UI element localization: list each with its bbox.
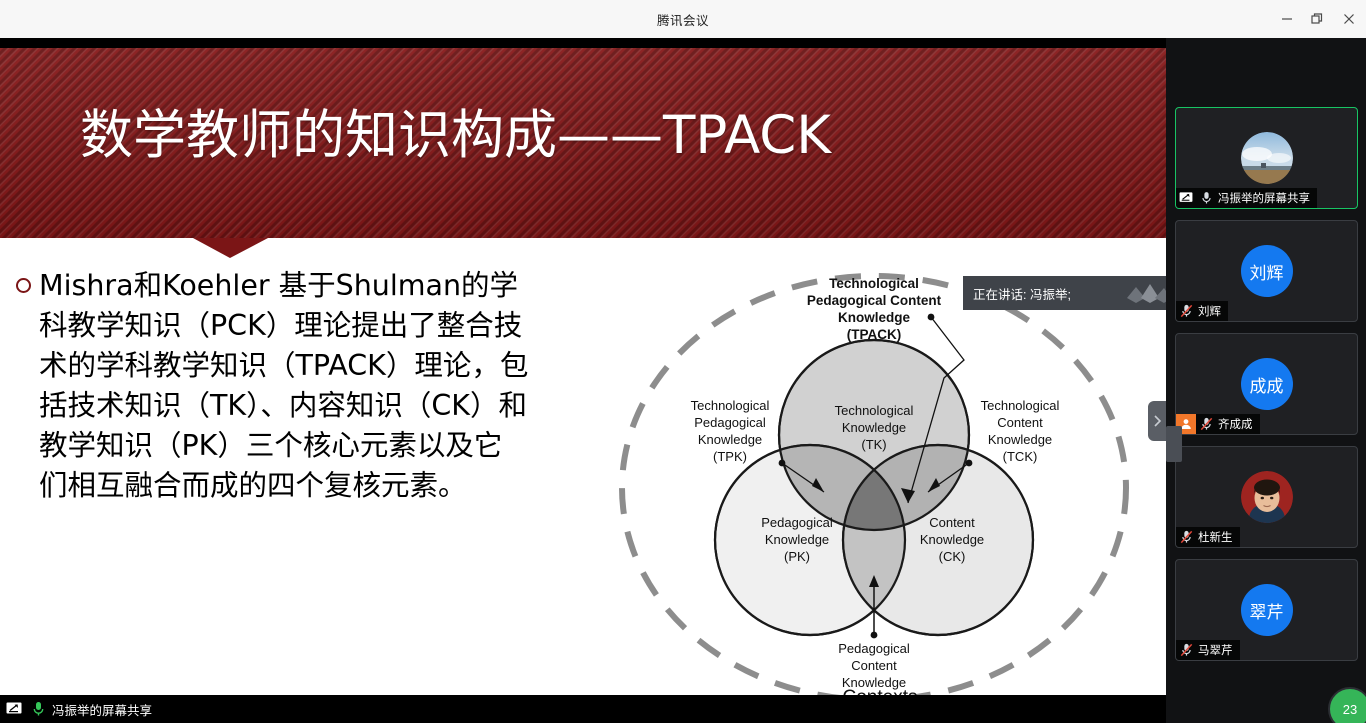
tck-label-line1: Technological bbox=[981, 398, 1060, 413]
participant-name: 冯振举的屏幕共享 bbox=[1216, 190, 1317, 206]
minimize-button[interactable] bbox=[1272, 0, 1302, 38]
screen-share-icon bbox=[4, 699, 24, 719]
window-title: 腾讯会议 bbox=[657, 10, 709, 29]
avatar bbox=[1241, 471, 1293, 523]
share-status-label: 冯振举的屏幕共享 bbox=[52, 700, 152, 719]
share-status-bar: 冯振举的屏幕共享 bbox=[0, 695, 1166, 723]
tpack-label-line3: Knowledge bbox=[838, 310, 910, 325]
tpk-label-line1: Technological bbox=[691, 398, 770, 413]
speaking-toast: 正在讲话: 冯振举; bbox=[963, 276, 1166, 310]
participant-tile-duxinsheng[interactable]: 杜新生 bbox=[1175, 446, 1358, 548]
tk-label-line3: (TK) bbox=[861, 437, 886, 452]
shared-screen-stage[interactable]: 数学教师的知识构成——TPACK Mishra和Koehler 基于Shulma… bbox=[0, 38, 1166, 723]
tpack-venn-diagram: .lbl { font-family: "Liberation Sans","D… bbox=[612, 260, 1152, 700]
chevron-right-icon bbox=[1152, 414, 1162, 428]
mic-on-icon bbox=[1196, 188, 1216, 208]
participant-tile-screen-share[interactable]: 冯振举的屏幕共享 bbox=[1175, 107, 1358, 209]
participants-sidebar[interactable]: 冯振举的屏幕共享 刘辉 刘辉 成成 bbox=[1166, 38, 1366, 723]
presentation-slide: 数学教师的知识构成——TPACK Mishra和Koehler 基于Shulma… bbox=[0, 48, 1166, 703]
restore-button[interactable] bbox=[1302, 0, 1332, 38]
slide-body-text: Mishra和Koehler 基于Shulman的学科教学知识（PCK）理论提出… bbox=[39, 266, 530, 506]
speaking-text: 正在讲话: 冯振举; bbox=[973, 284, 1071, 303]
participant-name: 刘辉 bbox=[1196, 303, 1228, 319]
status-badge[interactable]: 23 bbox=[1328, 687, 1366, 723]
pck-label-line1: Pedagogical bbox=[838, 641, 910, 656]
participant-namebar: 马翠芹 bbox=[1176, 640, 1240, 660]
slide-body-block: Mishra和Koehler 基于Shulman的学科教学知识（PCK）理论提出… bbox=[10, 266, 530, 506]
pk-label-line2: Knowledge bbox=[765, 532, 829, 547]
ck-label-line2: Knowledge bbox=[920, 532, 984, 547]
banner-notch bbox=[193, 238, 268, 258]
tpack-label-line4: (TPACK) bbox=[847, 327, 902, 342]
pck-label-line2: Content bbox=[851, 658, 897, 673]
tk-label-line1: Technological bbox=[835, 403, 914, 418]
sound-wave-icon bbox=[1125, 282, 1166, 304]
window-controls bbox=[1272, 0, 1366, 38]
participant-tile-qichengcheng[interactable]: 成成 齐成成 bbox=[1175, 333, 1358, 435]
pk-label-line3: (PK) bbox=[784, 549, 810, 564]
mic-off-icon bbox=[1176, 301, 1196, 321]
avatar: 成成 bbox=[1241, 358, 1293, 410]
participant-namebar: 杜新生 bbox=[1176, 527, 1240, 547]
participant-namebar: 齐成成 bbox=[1176, 414, 1260, 434]
participant-name: 杜新生 bbox=[1196, 529, 1240, 545]
tpack-label-line2: Pedagogical Content bbox=[807, 293, 942, 308]
title-bar: 腾讯会议 bbox=[0, 0, 1366, 38]
mic-off-icon bbox=[1196, 414, 1216, 434]
participant-namebar: 刘辉 bbox=[1176, 301, 1228, 321]
tpk-label-line4: (TPK) bbox=[713, 449, 747, 464]
participant-tile-macuiqin[interactable]: 翠芹 马翠芹 bbox=[1175, 559, 1358, 661]
tk-label-line2: Knowledge bbox=[842, 420, 906, 435]
participant-namebar: 冯振举的屏幕共享 bbox=[1176, 188, 1317, 208]
tencent-meeting-window: 腾讯会议 数学教师的知识构成——TPACK bbox=[0, 0, 1366, 723]
pk-label-line1: Pedagogical bbox=[761, 515, 833, 530]
screen-share-icon bbox=[1176, 188, 1196, 208]
avatar: 刘辉 bbox=[1241, 245, 1293, 297]
slide-title: 数学教师的知识构成——TPACK bbox=[80, 100, 1080, 172]
sidebar-scrollbar-thumb[interactable] bbox=[1166, 426, 1182, 462]
sidebar-collapse-handle[interactable] bbox=[1148, 401, 1166, 441]
participant-name: 齐成成 bbox=[1216, 416, 1260, 432]
tpack-label-line1: Technological bbox=[829, 276, 919, 291]
ck-label-line1: Content bbox=[929, 515, 975, 530]
avatar bbox=[1241, 132, 1293, 184]
participant-tile-liuhui[interactable]: 刘辉 刘辉 bbox=[1175, 220, 1358, 322]
mic-on-icon bbox=[28, 699, 48, 719]
tck-label-line4: (TCK) bbox=[1003, 449, 1038, 464]
participant-name: 马翠芹 bbox=[1196, 642, 1240, 658]
mic-off-icon bbox=[1176, 527, 1196, 547]
tck-label-line2: Content bbox=[997, 415, 1043, 430]
tck-label-line3: Knowledge bbox=[988, 432, 1052, 447]
ck-label-line3: (CK) bbox=[939, 549, 966, 564]
tpk-label-line3: Knowledge bbox=[698, 432, 762, 447]
mic-off-icon bbox=[1176, 640, 1196, 660]
tpk-label-line2: Pedagogical bbox=[694, 415, 766, 430]
avatar: 翠芹 bbox=[1241, 584, 1293, 636]
circle-outline-bullet-icon bbox=[16, 278, 31, 293]
close-button[interactable] bbox=[1332, 0, 1366, 38]
